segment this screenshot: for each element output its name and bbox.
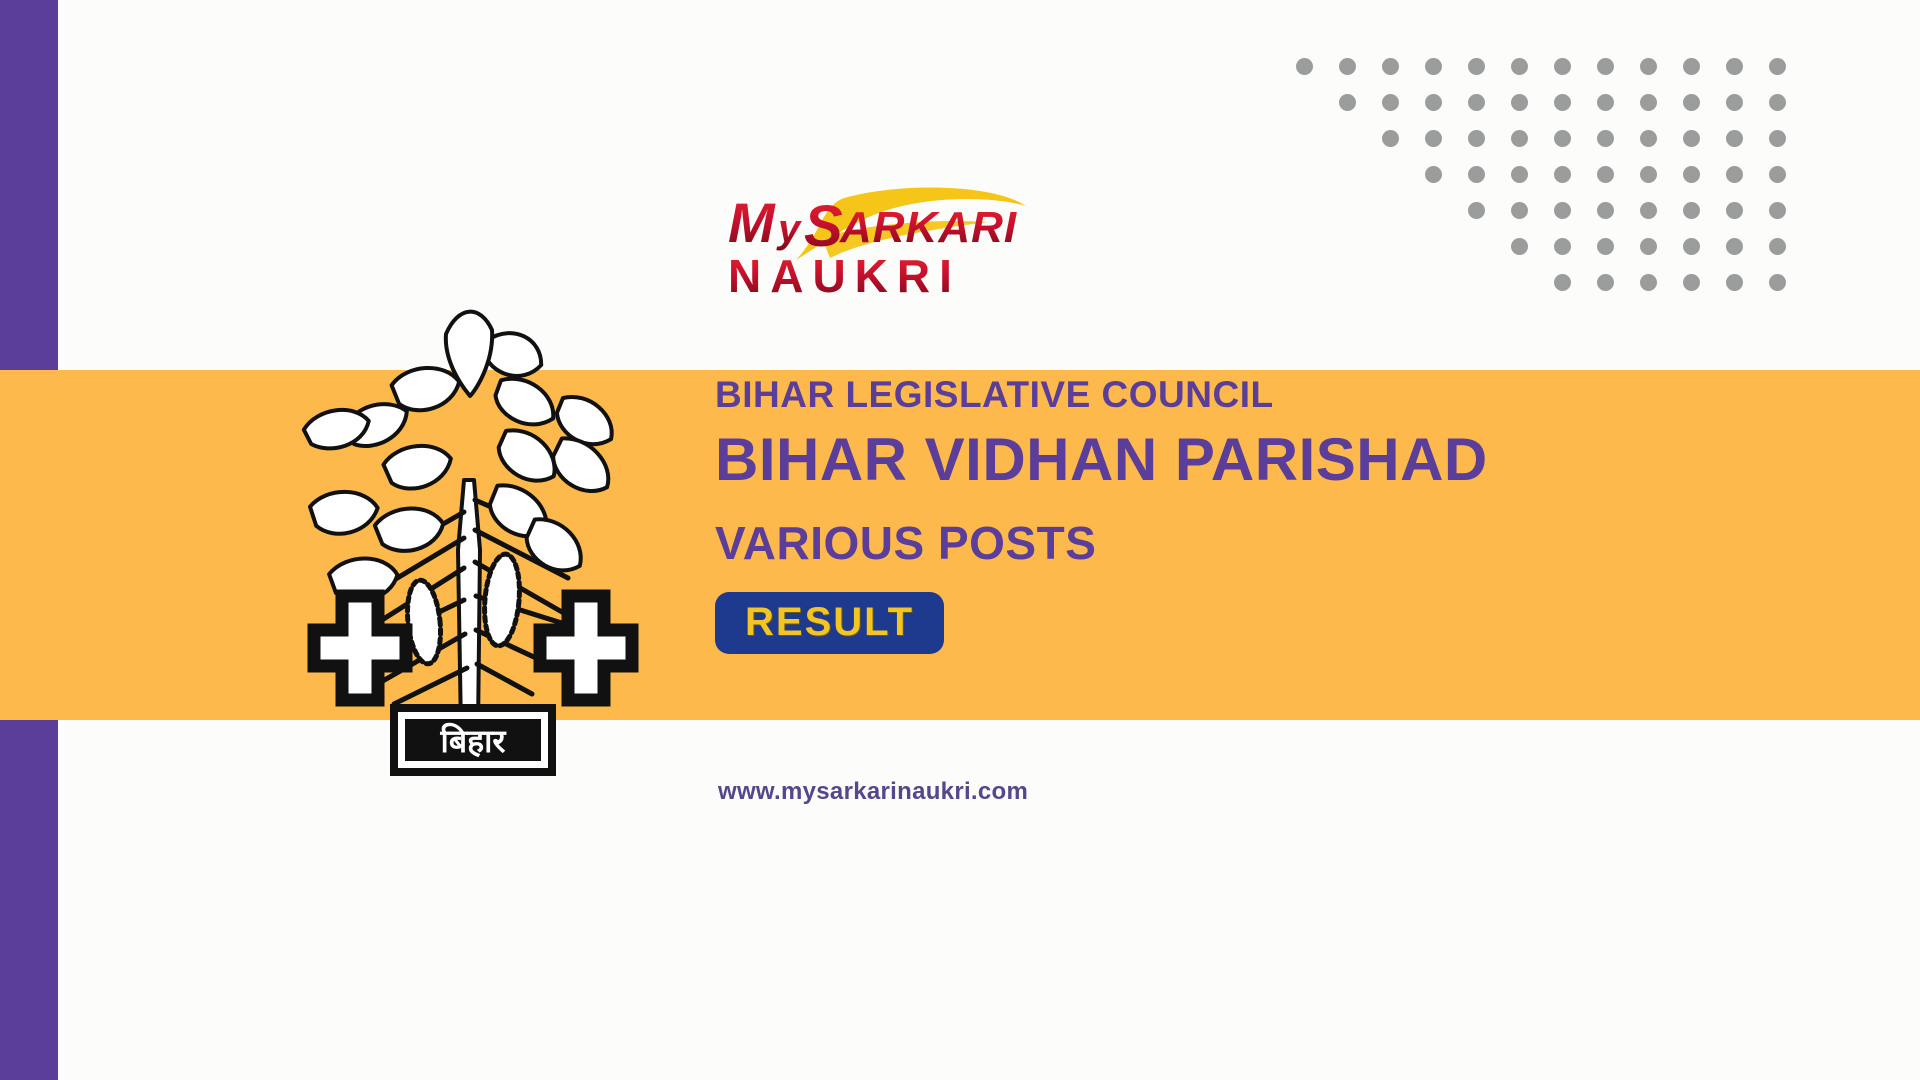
dot-spacer [1339,166,1356,183]
dot [1382,58,1399,75]
dot [1468,130,1485,147]
dot [1769,166,1786,183]
department-name: BIHAR LEGISLATIVE COUNCIL [715,376,1815,415]
dot [1511,130,1528,147]
dot [1597,94,1614,111]
dot-spacer [1382,202,1399,219]
dot [1425,58,1442,75]
dot-spacer [1339,202,1356,219]
mysarkarinaukri-logo: M y S ARKARI NAUKRI [726,180,1036,300]
dot [1339,58,1356,75]
dot [1726,130,1743,147]
dot-row [1296,84,1812,120]
dot [1339,94,1356,111]
dot-row [1296,264,1812,300]
dot [1640,238,1657,255]
bihar-vidhan-parishad-emblem: बिहार [278,300,668,780]
dot [1511,58,1528,75]
dot-spacer [1425,238,1442,255]
dot [1382,130,1399,147]
dot [1468,58,1485,75]
dot-spacer [1339,238,1356,255]
dot [1640,130,1657,147]
dot [1425,166,1442,183]
dot [1554,58,1571,75]
dot [1468,202,1485,219]
dot-spacer [1382,166,1399,183]
dot [1640,58,1657,75]
dot [1554,94,1571,111]
dot [1769,202,1786,219]
dot-spacer [1296,166,1313,183]
dot [1769,274,1786,291]
dot-row [1296,120,1812,156]
dot [1726,238,1743,255]
svg-text:y: y [776,207,802,251]
dot [1683,202,1700,219]
emblem-base-label: बिहार [440,722,508,759]
emblem-leaves-left [301,356,465,610]
dot-spacer [1468,238,1485,255]
dot [1769,130,1786,147]
dot [1425,130,1442,147]
dot-row [1296,156,1812,192]
svg-text:NAUKRI: NAUKRI [728,250,961,300]
status-badge: RESULT [715,592,944,654]
dot [1468,94,1485,111]
dot-grid-decoration [1296,48,1812,300]
dot [1683,130,1700,147]
dot [1554,202,1571,219]
dot-row [1296,48,1812,84]
dot [1382,94,1399,111]
dot [1683,274,1700,291]
heading-block: BIHAR LEGISLATIVE COUNCIL BIHAR VIDHAN P… [715,376,1815,654]
dot [1511,202,1528,219]
dot [1726,202,1743,219]
dot [1726,166,1743,183]
dot-spacer [1296,130,1313,147]
dot-spacer [1511,274,1528,291]
organisation-name: BIHAR VIDHAN PARISHAD [715,425,1815,496]
dot [1554,274,1571,291]
dot-spacer [1296,238,1313,255]
dot-spacer [1382,274,1399,291]
website-url[interactable]: www.mysarkarinaukri.com [718,778,1028,806]
dot [1640,166,1657,183]
dot [1511,238,1528,255]
emblem-base-plaque: बिहार [390,704,556,776]
dot-spacer [1339,274,1356,291]
dot [1769,94,1786,111]
dot [1554,166,1571,183]
dot-row [1296,228,1812,264]
dot [1726,94,1743,111]
dot [1769,238,1786,255]
svg-text:ARKARI: ARKARI [839,203,1017,252]
dot [1640,202,1657,219]
dot [1511,94,1528,111]
dot-spacer [1296,202,1313,219]
dot [1683,166,1700,183]
dot [1726,58,1743,75]
dot-spacer [1425,274,1442,291]
dot [1640,274,1657,291]
dot-spacer [1296,274,1313,291]
dot [1468,166,1485,183]
dot-spacer [1296,94,1313,111]
dot-spacer [1339,130,1356,147]
dot-spacer [1425,202,1442,219]
dot [1597,130,1614,147]
dot [1511,166,1528,183]
dot [1597,238,1614,255]
dot-spacer [1468,274,1485,291]
poster-canvas: M y S ARKARI NAUKRI [0,0,1920,1080]
status-badge-wrap: RESULT [715,592,1815,654]
dot-spacer [1382,238,1399,255]
post-name: VARIOUS POSTS [715,518,1815,569]
dot [1683,94,1700,111]
emblem-trunk [458,480,480,730]
dot [1726,274,1743,291]
dot [1554,130,1571,147]
dot [1597,58,1614,75]
dot [1597,274,1614,291]
dot [1683,58,1700,75]
dot [1640,94,1657,111]
dot [1296,58,1313,75]
svg-text:M: M [728,191,776,254]
dot [1683,238,1700,255]
dot [1597,166,1614,183]
dot [1769,58,1786,75]
emblem-swastika-right [540,596,632,700]
dot-row [1296,192,1812,228]
dot [1597,202,1614,219]
dot [1554,238,1571,255]
dot [1425,94,1442,111]
